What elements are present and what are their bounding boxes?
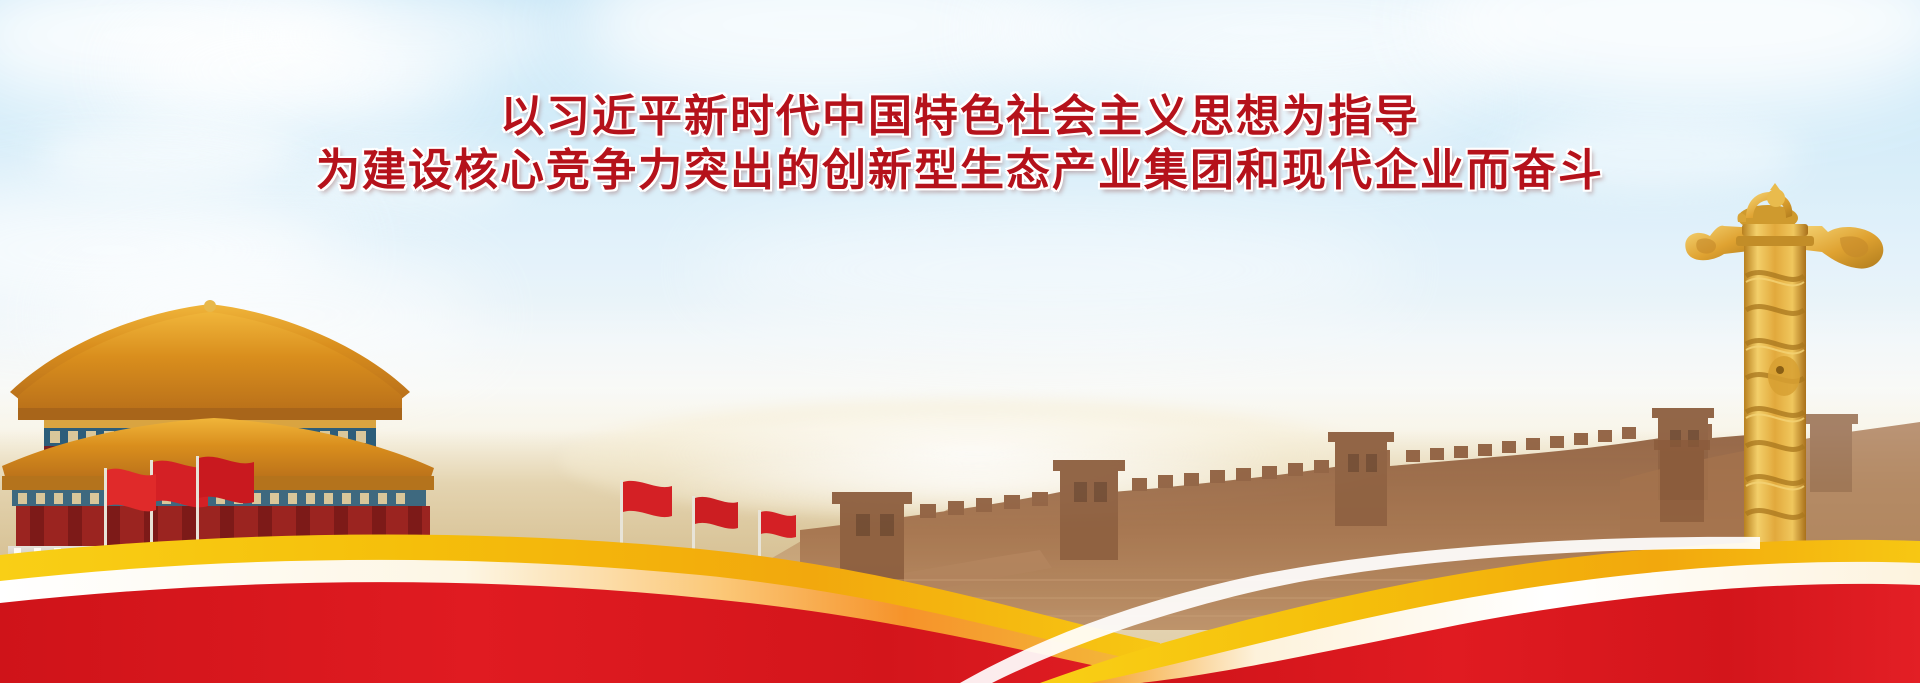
banner-root: 以习近平新时代中国特色社会主义思想为指导 为建设核心竞争力突出的创新型生态产业集… bbox=[0, 0, 1920, 683]
headline: 以习近平新时代中国特色社会主义思想为指导 为建设核心竞争力突出的创新型生态产业集… bbox=[0, 90, 1920, 197]
headline-line-2: 为建设核心竞争力突出的创新型生态产业集团和现代企业而奋斗 bbox=[0, 144, 1920, 198]
bottom-ribbons bbox=[0, 523, 1920, 683]
headline-line-1: 以习近平新时代中国特色社会主义思想为指导 bbox=[0, 90, 1920, 144]
